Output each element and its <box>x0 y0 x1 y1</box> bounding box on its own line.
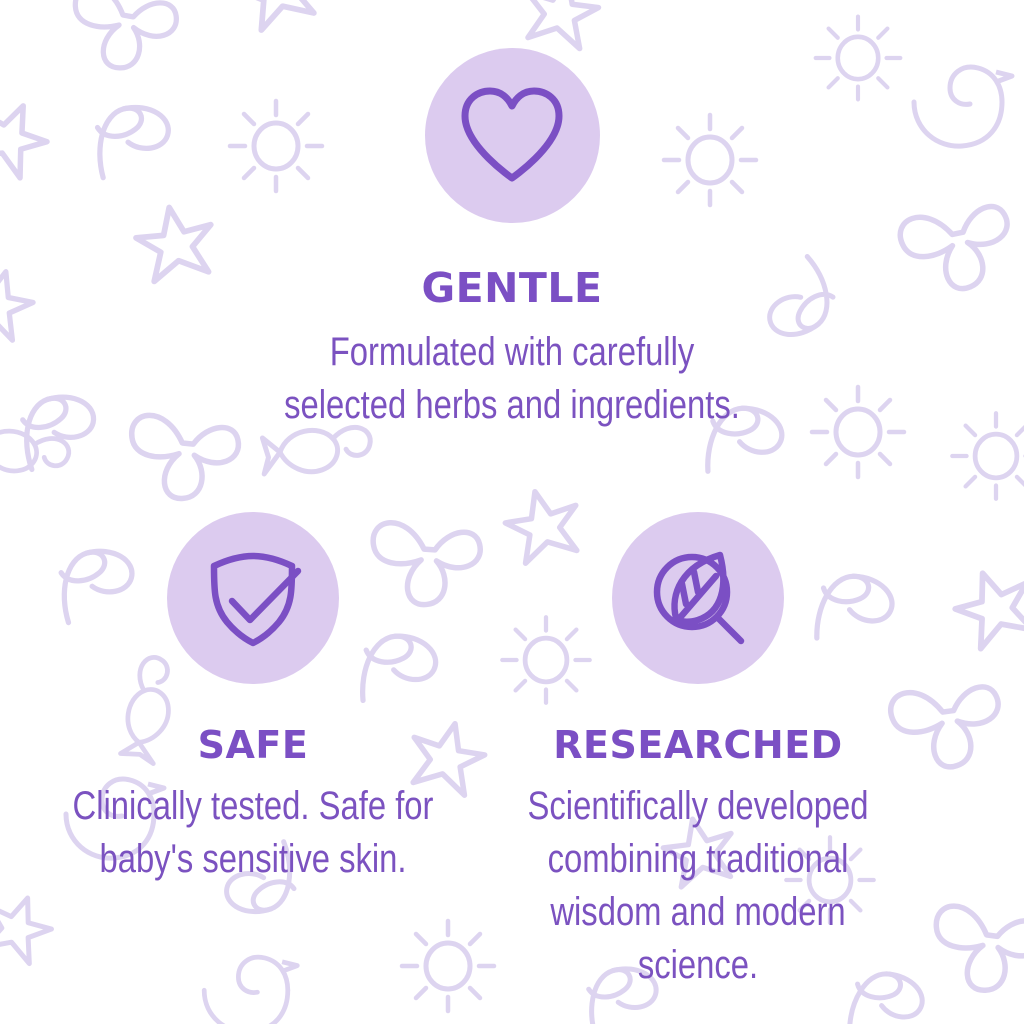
promo-graphic: GENTLE Formulated with carefully selecte… <box>0 0 1024 1024</box>
gentle-icon-circle <box>425 48 600 223</box>
feature-researched-description: Scientifically developed combining tradi… <box>509 780 886 992</box>
feature-safe-title: SAFE <box>28 726 478 764</box>
feature-safe-description: Clinically tested. Safe for baby's sensi… <box>69 780 438 886</box>
feature-researched: RESEARCHED Scientifically developed comb… <box>468 512 928 992</box>
researched-icon-circle <box>612 512 784 684</box>
leaf-magnifier-icon <box>642 542 754 654</box>
shield-check-icon <box>199 544 307 652</box>
safe-icon-circle <box>167 512 339 684</box>
feature-researched-title: RESEARCHED <box>468 726 928 764</box>
feature-gentle-description: Formulated with carefully selected herbs… <box>266 326 758 432</box>
feature-safe: SAFE Clinically tested. Safe for baby's … <box>28 512 478 886</box>
feature-gentle: GENTLE Formulated with carefully selecte… <box>212 48 812 432</box>
feature-gentle-title: GENTLE <box>212 268 812 309</box>
heart-icon <box>457 86 567 186</box>
